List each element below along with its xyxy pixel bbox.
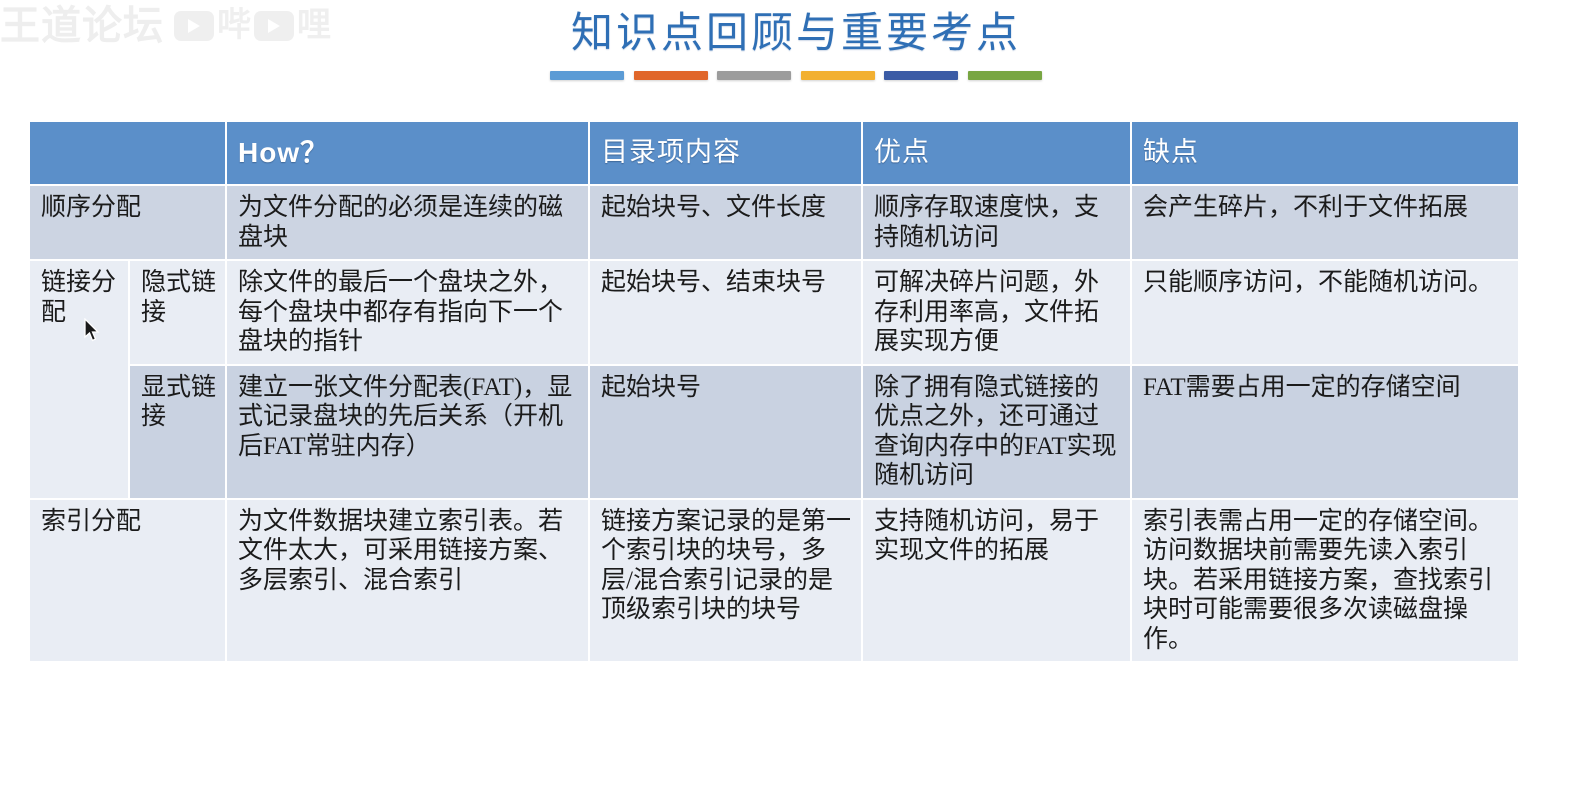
header-advantage: 优点 [863, 122, 1132, 186]
row-disadvantage-explicit: FAT需要占用一定的存储空间 [1132, 366, 1520, 500]
table-header-row: How？ 目录项内容 优点 缺点 [30, 122, 1520, 186]
row-advantage-indexed: 支持随机访问，易于实现文件的拓展 [863, 500, 1132, 664]
row-advantage-implicit: 可解决碎片问题，外存利用率高，文件拓展实现方便 [863, 261, 1132, 366]
title-bar-4 [801, 71, 875, 80]
row-how-explicit: 建立一张文件分配表(FAT)，显式记录盘块的先后关系（开机后FAT常驻内存） [227, 366, 590, 500]
row-directory-implicit: 起始块号、结束块号 [590, 261, 863, 366]
row-category-indexed: 索引分配 [30, 500, 227, 664]
row-how-sequential: 为文件分配的必须是连续的磁盘块 [227, 186, 590, 261]
table-row: 顺序分配 为文件分配的必须是连续的磁盘块 起始块号、文件长度 顺序存取速度快，支… [30, 186, 1520, 261]
allocation-comparison-table: How？ 目录项内容 优点 缺点 顺序分配 为文件分配的必须是连续的磁盘块 起始… [30, 122, 1520, 663]
header-category [30, 122, 227, 186]
row-advantage-sequential: 顺序存取速度快，支持随机访问 [863, 186, 1132, 261]
row-advantage-explicit: 除了拥有隐式链接的优点之外，还可通过查询内存中的FAT实现随机访问 [863, 366, 1132, 500]
row-subcategory-implicit: 隐式链接 [130, 261, 227, 366]
header-how: How？ [227, 122, 590, 186]
row-disadvantage-sequential: 会产生碎片，不利于文件拓展 [1132, 186, 1520, 261]
title-block: 知识点回顾与重要考点 [0, 8, 1592, 80]
header-disadvantage: 缺点 [1132, 122, 1520, 186]
row-disadvantage-implicit: 只能顺序访问，不能随机访问。 [1132, 261, 1520, 366]
table-row: 索引分配 为文件数据块建立索引表。若文件太大，可采用链接方案、多层索引、混合索引… [30, 500, 1520, 664]
title-bar-2 [634, 71, 708, 80]
title-bar-1 [550, 71, 624, 80]
title-underline-bars [550, 71, 1042, 80]
page-title: 知识点回顾与重要考点 [0, 8, 1592, 61]
row-category-sequential: 顺序分配 [30, 186, 227, 261]
row-how-implicit: 除文件的最后一个盘块之外，每个盘块中都存有指向下一个盘块的指针 [227, 261, 590, 366]
header-directory-entry: 目录项内容 [590, 122, 863, 186]
row-directory-sequential: 起始块号、文件长度 [590, 186, 863, 261]
row-how-indexed: 为文件数据块建立索引表。若文件太大，可采用链接方案、多层索引、混合索引 [227, 500, 590, 664]
table-row: 显式链接 建立一张文件分配表(FAT)，显式记录盘块的先后关系（开机后FAT常驻… [30, 366, 1520, 500]
row-category-linked: 链接分配 [30, 261, 130, 500]
row-disadvantage-indexed: 索引表需占用一定的存储空间。访问数据块前需要先读入索引块。若采用链接方案，查找索… [1132, 500, 1520, 664]
table-row: 链接分配 隐式链接 除文件的最后一个盘块之外，每个盘块中都存有指向下一个盘块的指… [30, 261, 1520, 366]
row-directory-explicit: 起始块号 [590, 366, 863, 500]
title-bar-5 [884, 71, 958, 80]
row-directory-indexed: 链接方案记录的是第一个索引块的块号，多层/混合索引记录的是顶级索引块的块号 [590, 500, 863, 664]
title-bar-6 [968, 71, 1042, 80]
row-subcategory-explicit: 显式链接 [130, 366, 227, 500]
title-bar-3 [717, 71, 791, 80]
